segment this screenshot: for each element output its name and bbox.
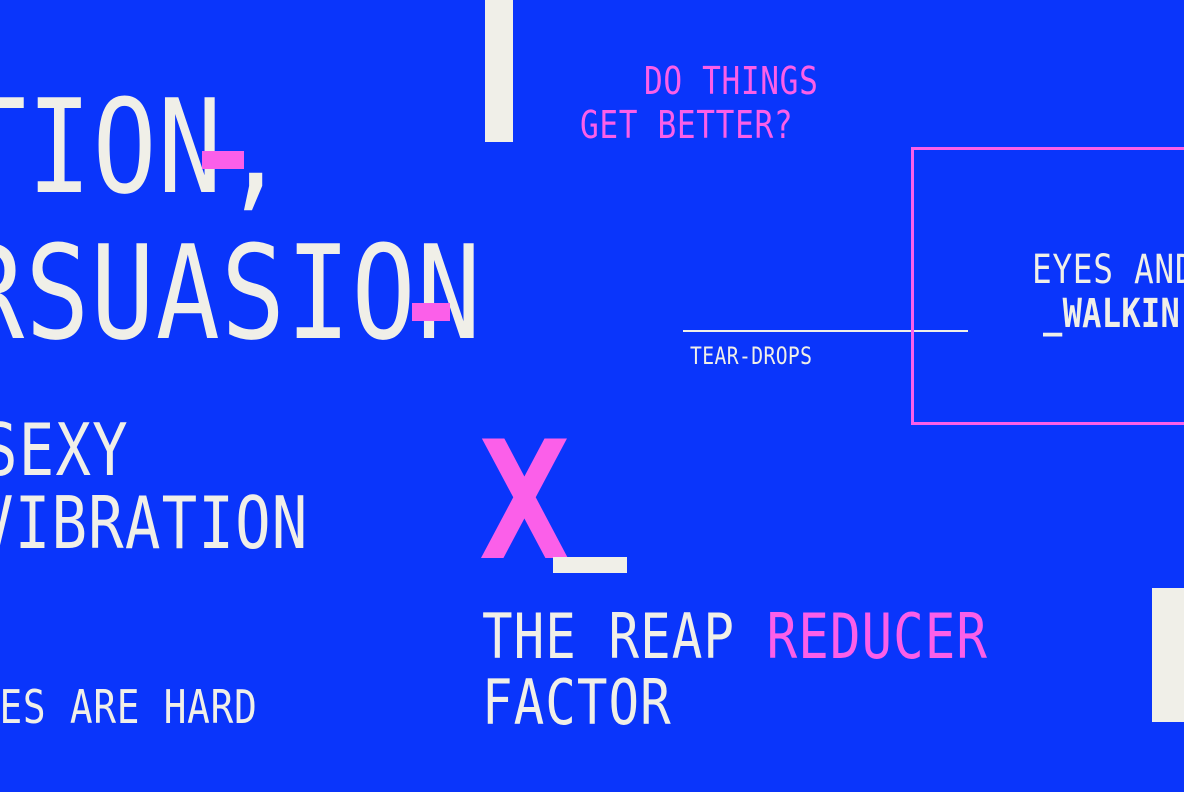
left-word-sexy: SEXY <box>0 414 129 486</box>
bottom-headline-part-1: THE REAP <box>482 600 767 673</box>
bottom-headline-line-2: FACTOR <box>482 672 672 734</box>
poster-canvas: TION, RSUASION SEXY VIBRATION MES ARE HA… <box>0 0 1184 792</box>
left-word-vibration: VIBRATION <box>0 487 309 559</box>
bottom-headline-line-1: THE REAP REDUCER <box>482 606 988 668</box>
decorative-vertical-bar-top <box>485 0 513 142</box>
headline-line-1: TION, <box>0 82 288 212</box>
underscore-accent <box>553 557 627 573</box>
left-word-times-are-hard: MES ARE HARD <box>0 684 258 730</box>
caption-tear-drops: TEAR-DROPS <box>690 344 812 368</box>
right-panel-line-1: EYES AND <box>1032 250 1184 290</box>
question-line-1: DO THINGS <box>644 62 818 100</box>
question-line-2: GET BETTER? <box>580 106 793 144</box>
decorative-block-bottom-right <box>1152 588 1184 722</box>
right-panel-line-2: _WALKIN <box>1043 294 1180 334</box>
center-x-mark: X <box>479 420 564 584</box>
pink-dash-accent-1 <box>202 151 244 169</box>
headline-line-2: RSUASION <box>0 228 482 358</box>
bottom-headline-part-2: REDUCER <box>767 600 988 673</box>
pink-dash-accent-2 <box>412 303 450 321</box>
